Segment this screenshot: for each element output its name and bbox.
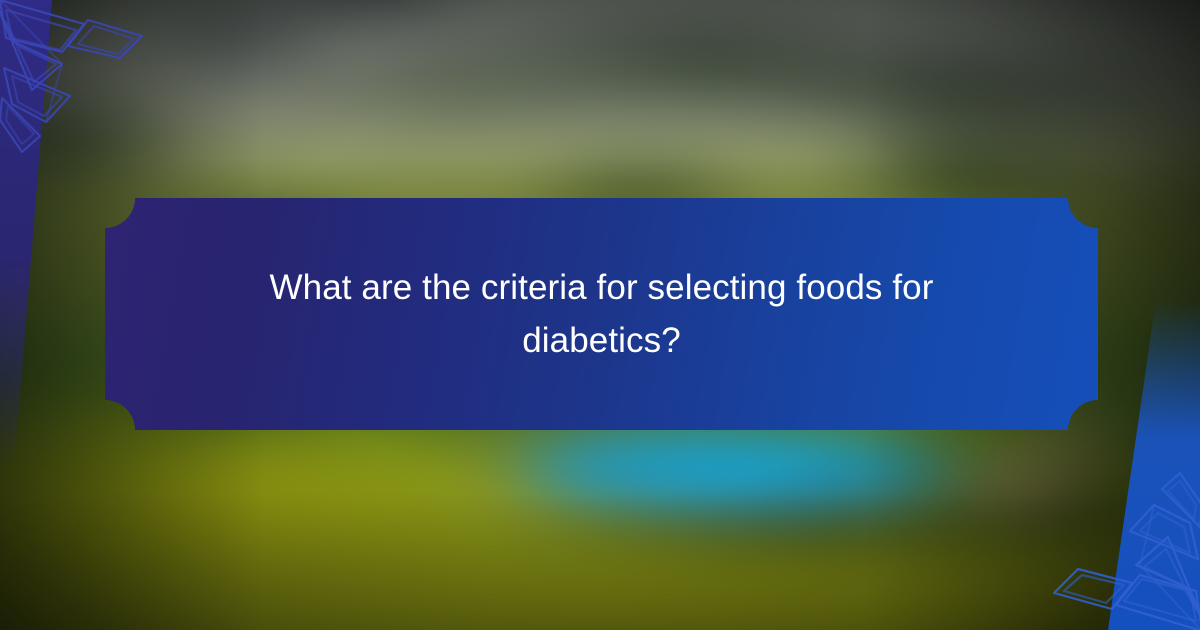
question-title: What are the criteria for selecting food… [192,261,1012,367]
question-card-banner: What are the criteria for selecting food… [0,0,1200,630]
question-card: What are the criteria for selecting food… [105,198,1098,430]
